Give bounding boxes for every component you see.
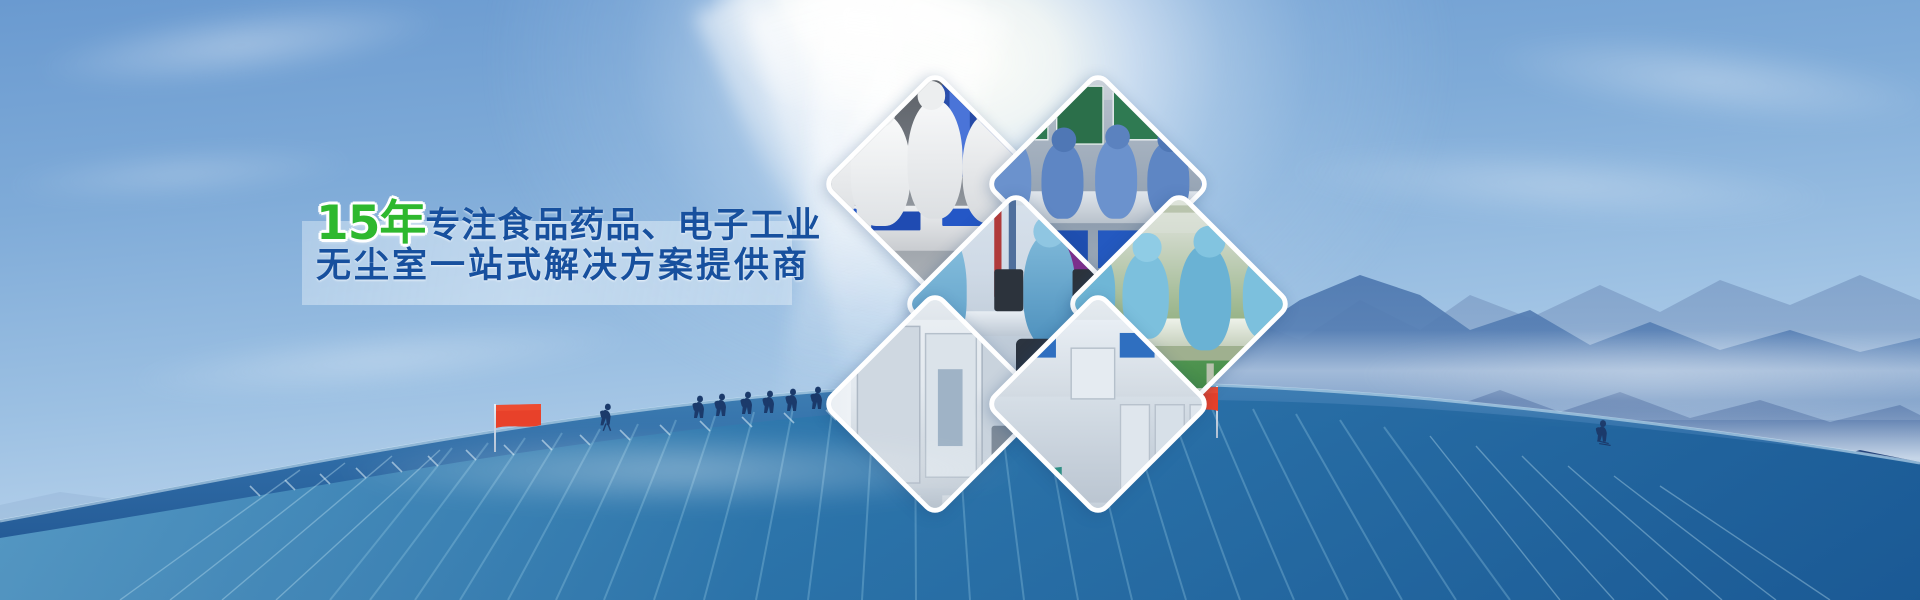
climber [1595,420,1610,445]
cleanroom-photo-collage [830,75,1290,475]
cloud-wisp [1350,330,1920,420]
climber [740,392,752,414]
climber [785,389,797,411]
climber [810,387,822,409]
climber [600,404,611,431]
headline-line-2-text: 无尘室一站式解决方案提供商 [316,246,810,286]
years-badge: 15年 [316,196,425,251]
headline-line-1: 15年专注食品药品、电子工业 [316,200,836,247]
headline-line-2: 无尘室一站式解决方案提供商 [316,249,836,284]
headline-block: 15年专注食品药品、电子工业 无尘室一站式解决方案提供商 [316,200,836,284]
climber [762,391,774,413]
flag-cloth [496,404,540,432]
climber [714,394,726,416]
cloud-wisp [330,430,1030,510]
climber [692,396,704,418]
hero-banner: 15年专注食品药品、电子工业 无尘室一站式解决方案提供商 [0,0,1920,600]
headline-line-1-text: 专注食品药品、电子工业 [425,206,821,246]
